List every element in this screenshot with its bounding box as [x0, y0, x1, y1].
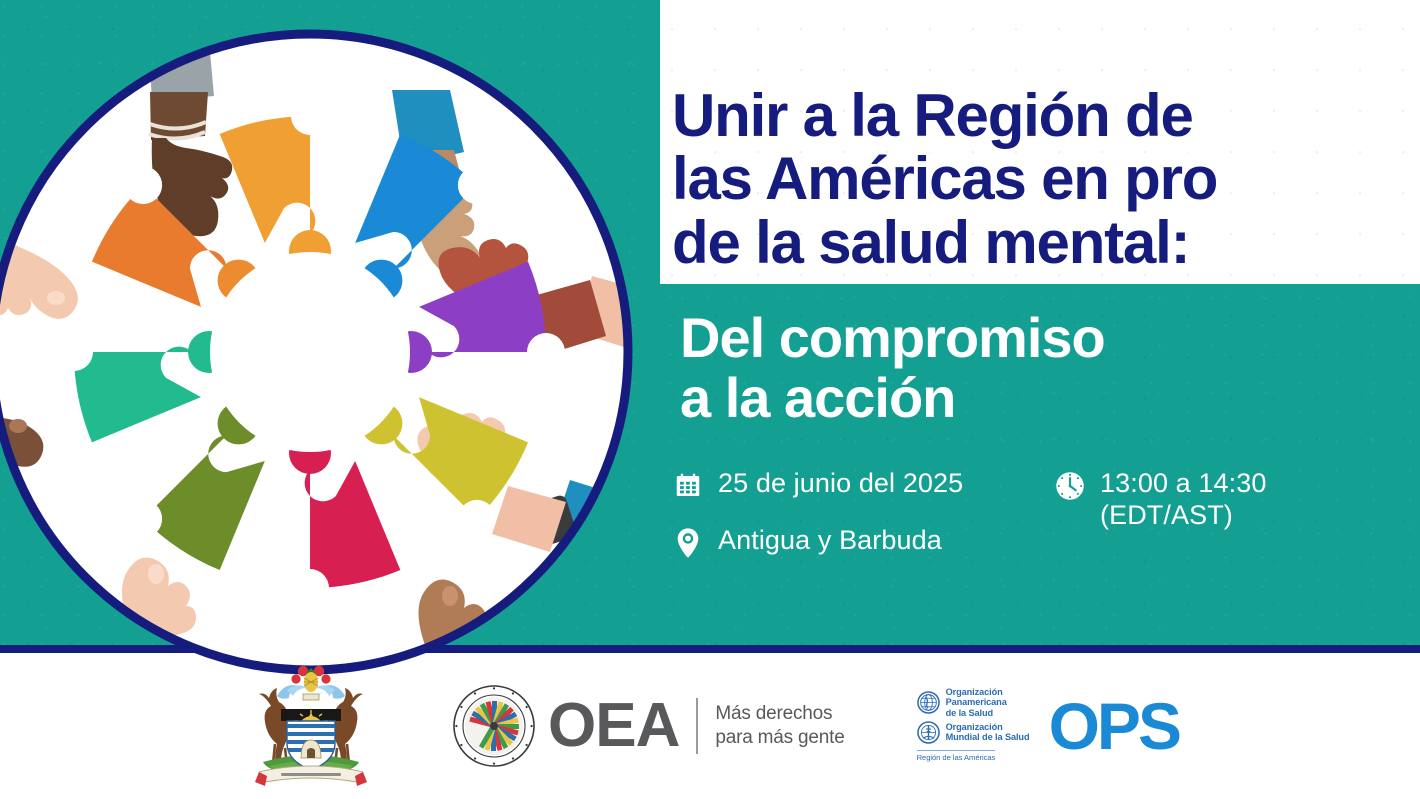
paho-name-line-3: de la Salud	[946, 708, 1007, 718]
oea-tagline-line-2: para más gente	[715, 726, 844, 750]
who-mark-row: Organización Mundial de la Salud	[917, 721, 1037, 744]
page-subtitle: Del compromiso a la acción	[680, 308, 1330, 428]
coa-crest	[277, 666, 345, 700]
paho-name-line-1: Organización	[946, 687, 1007, 697]
event-location-row: Antigua y Barbuda	[672, 525, 1042, 560]
event-details-column-left: 25 de junio del 2025 Antigua y Barbuda	[672, 468, 1042, 582]
paho-name: Organización Panamericana de la Salud	[946, 687, 1007, 718]
oea-tagline: Más derechos para más gente	[715, 702, 844, 750]
antigua-barbuda-coat-of-arms	[241, 662, 381, 790]
oea-logo: OEA Más derechos para más gente	[453, 685, 845, 767]
who-name-line-2: Mundial de la Salud	[946, 732, 1030, 742]
paho-ops-logo: Organización Panamericana de la Salud	[917, 687, 1179, 765]
clock-icon	[1054, 469, 1086, 503]
paho-who-marks: Organización Panamericana de la Salud	[917, 687, 1037, 765]
event-time-line-1: 13:00 a 14:30	[1100, 468, 1266, 498]
headline-line-1: Unir a la Región de	[672, 84, 1322, 147]
paho-globe-icon	[917, 691, 940, 714]
subhead-line-1: Del compromiso	[680, 308, 1330, 368]
event-details-column-right: 13:00 a 14:30 (EDT/AST)	[1054, 468, 1374, 554]
event-location-text: Antigua y Barbuda	[718, 525, 942, 557]
headline-line-3: de la salud mental:	[672, 211, 1322, 274]
paho-mark-row: Organización Panamericana de la Salud	[917, 687, 1037, 718]
oea-seal-icon	[453, 685, 535, 767]
event-time-line-2: (EDT/AST)	[1100, 500, 1266, 532]
oea-divider	[696, 698, 698, 754]
event-date-row: 25 de junio del 2025	[672, 468, 1042, 503]
location-pin-icon	[672, 526, 704, 560]
ops-wordmark: OPS	[1049, 693, 1179, 759]
event-time-row: 13:00 a 14:30 (EDT/AST)	[1054, 468, 1374, 532]
page-title: Unir a la Región de las Américas en pro …	[672, 84, 1322, 274]
oea-wordmark: OEA	[548, 695, 679, 757]
puzzle-circle-hands-illustration	[0, 12, 660, 724]
who-name: Organización Mundial de la Salud	[946, 722, 1030, 743]
headline-line-2: las Américas en pro	[672, 147, 1322, 210]
oea-tagline-line-1: Más derechos	[715, 702, 844, 726]
event-date-text: 25 de junio del 2025	[718, 468, 963, 500]
calendar-icon	[672, 469, 704, 503]
who-emblem-icon	[917, 721, 940, 744]
who-name-line-1: Organización	[946, 722, 1030, 732]
paho-region-label: Región de las Américas	[917, 750, 996, 762]
banner-content: Unir a la Región de las Américas en pro …	[672, 0, 1372, 645]
event-time-text: 13:00 a 14:30 (EDT/AST)	[1100, 468, 1266, 532]
footer-logos: OEA Más derechos para más gente	[0, 653, 1420, 799]
event-banner: Unir a la Región de las Américas en pro …	[0, 0, 1420, 799]
subhead-line-2: a la acción	[680, 368, 1330, 428]
paho-name-line-2: Panamericana	[946, 697, 1007, 707]
